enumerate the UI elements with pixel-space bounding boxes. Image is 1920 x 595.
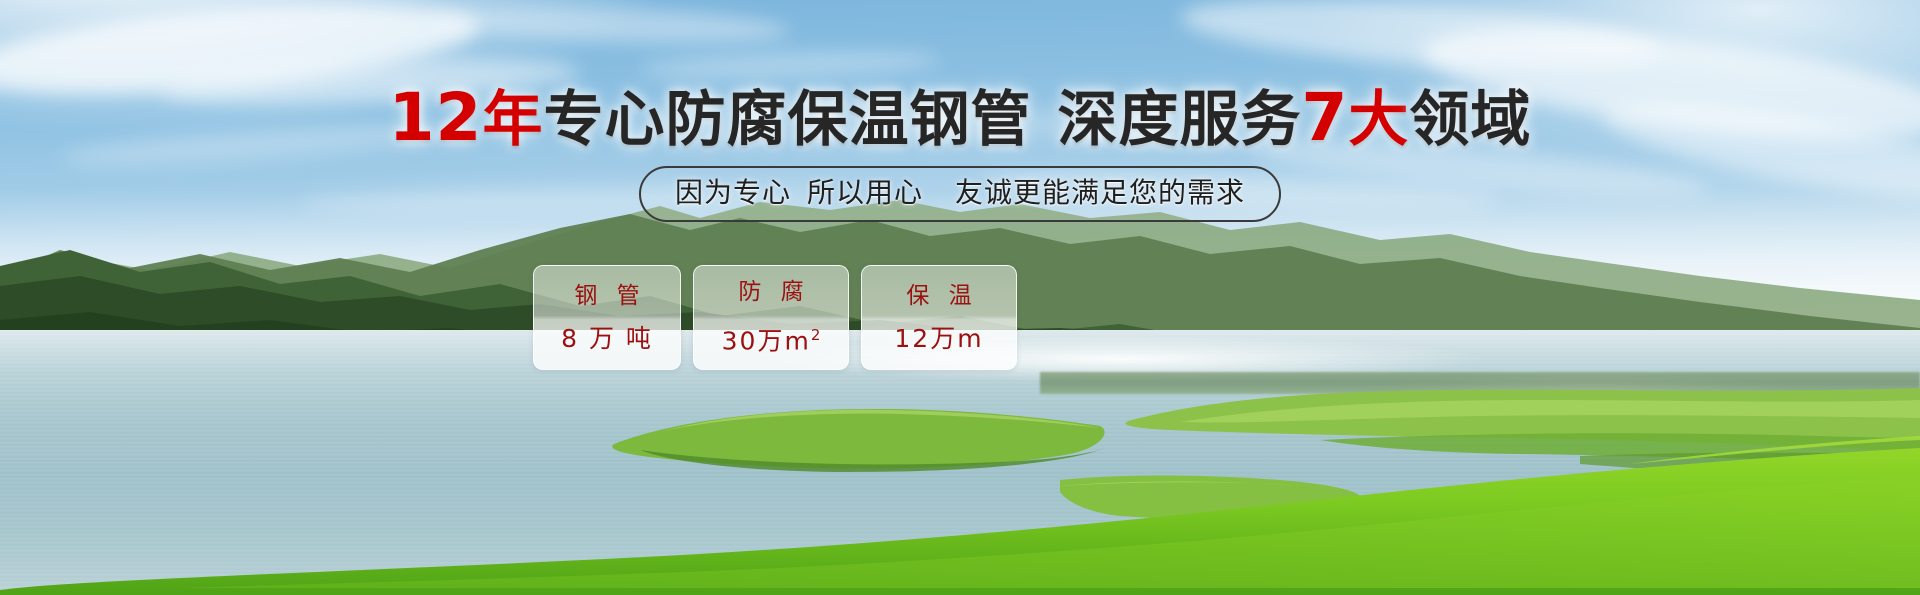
headline-fields-number: 7 [1301,79,1348,156]
stat-card-value-text: 12万m [894,324,983,353]
subtitle-pill: 因为专心所以用心友诚更能满足您的需求 [639,166,1281,222]
stat-card-value: 12万m [894,325,983,353]
subtitle-container: 因为专心所以用心友诚更能满足您的需求 [0,166,1920,222]
stat-card-value: 8 万 吨 [561,325,653,353]
headline-fields-unit: 大 [1348,85,1409,155]
stat-card-label: 保 温 [900,283,977,309]
hero-banner: 12年专心防腐保温钢管深度服务7大领域 因为专心所以用心友诚更能满足您的需求 钢… [0,0,1920,595]
stat-card-label: 防 腐 [732,279,809,305]
headline-years-number: 12 [389,79,483,156]
headline-main-text: 专心防腐保温钢管 [543,85,1031,155]
stat-card-steel-pipe[interactable]: 钢 管 8 万 吨 [533,265,681,370]
subtitle-part-1: 因为专心 [675,176,791,209]
cloud-shape [640,47,941,83]
stat-card-insulation[interactable]: 保 温 12万m [861,265,1017,370]
headline-fields-text: 领域 [1409,85,1531,155]
stat-card-anticorrosion[interactable]: 防 腐 30万m2 [693,265,849,370]
stat-card-group: 钢 管 8 万 吨 防 腐 30万m2 保 温 12万m [533,265,1017,370]
foreground-grass [0,430,1920,595]
subtitle-part-3: 友诚更能满足您的需求 [955,176,1245,209]
stat-card-value-text: 30万m [722,327,811,356]
headline: 12年专心防腐保温钢管深度服务7大领域 [0,82,1920,156]
cloud-shape [430,2,791,49]
stat-card-value-superscript: 2 [811,326,821,344]
subtitle-part-2: 所以用心 [807,176,923,209]
stat-card-value-text: 8 万 吨 [561,324,653,353]
headline-years-unit: 年 [482,85,543,155]
headline-service-text: 深度服务 [1057,85,1301,155]
stat-card-value: 30万m2 [722,321,821,355]
stat-card-label: 钢 管 [568,283,645,309]
